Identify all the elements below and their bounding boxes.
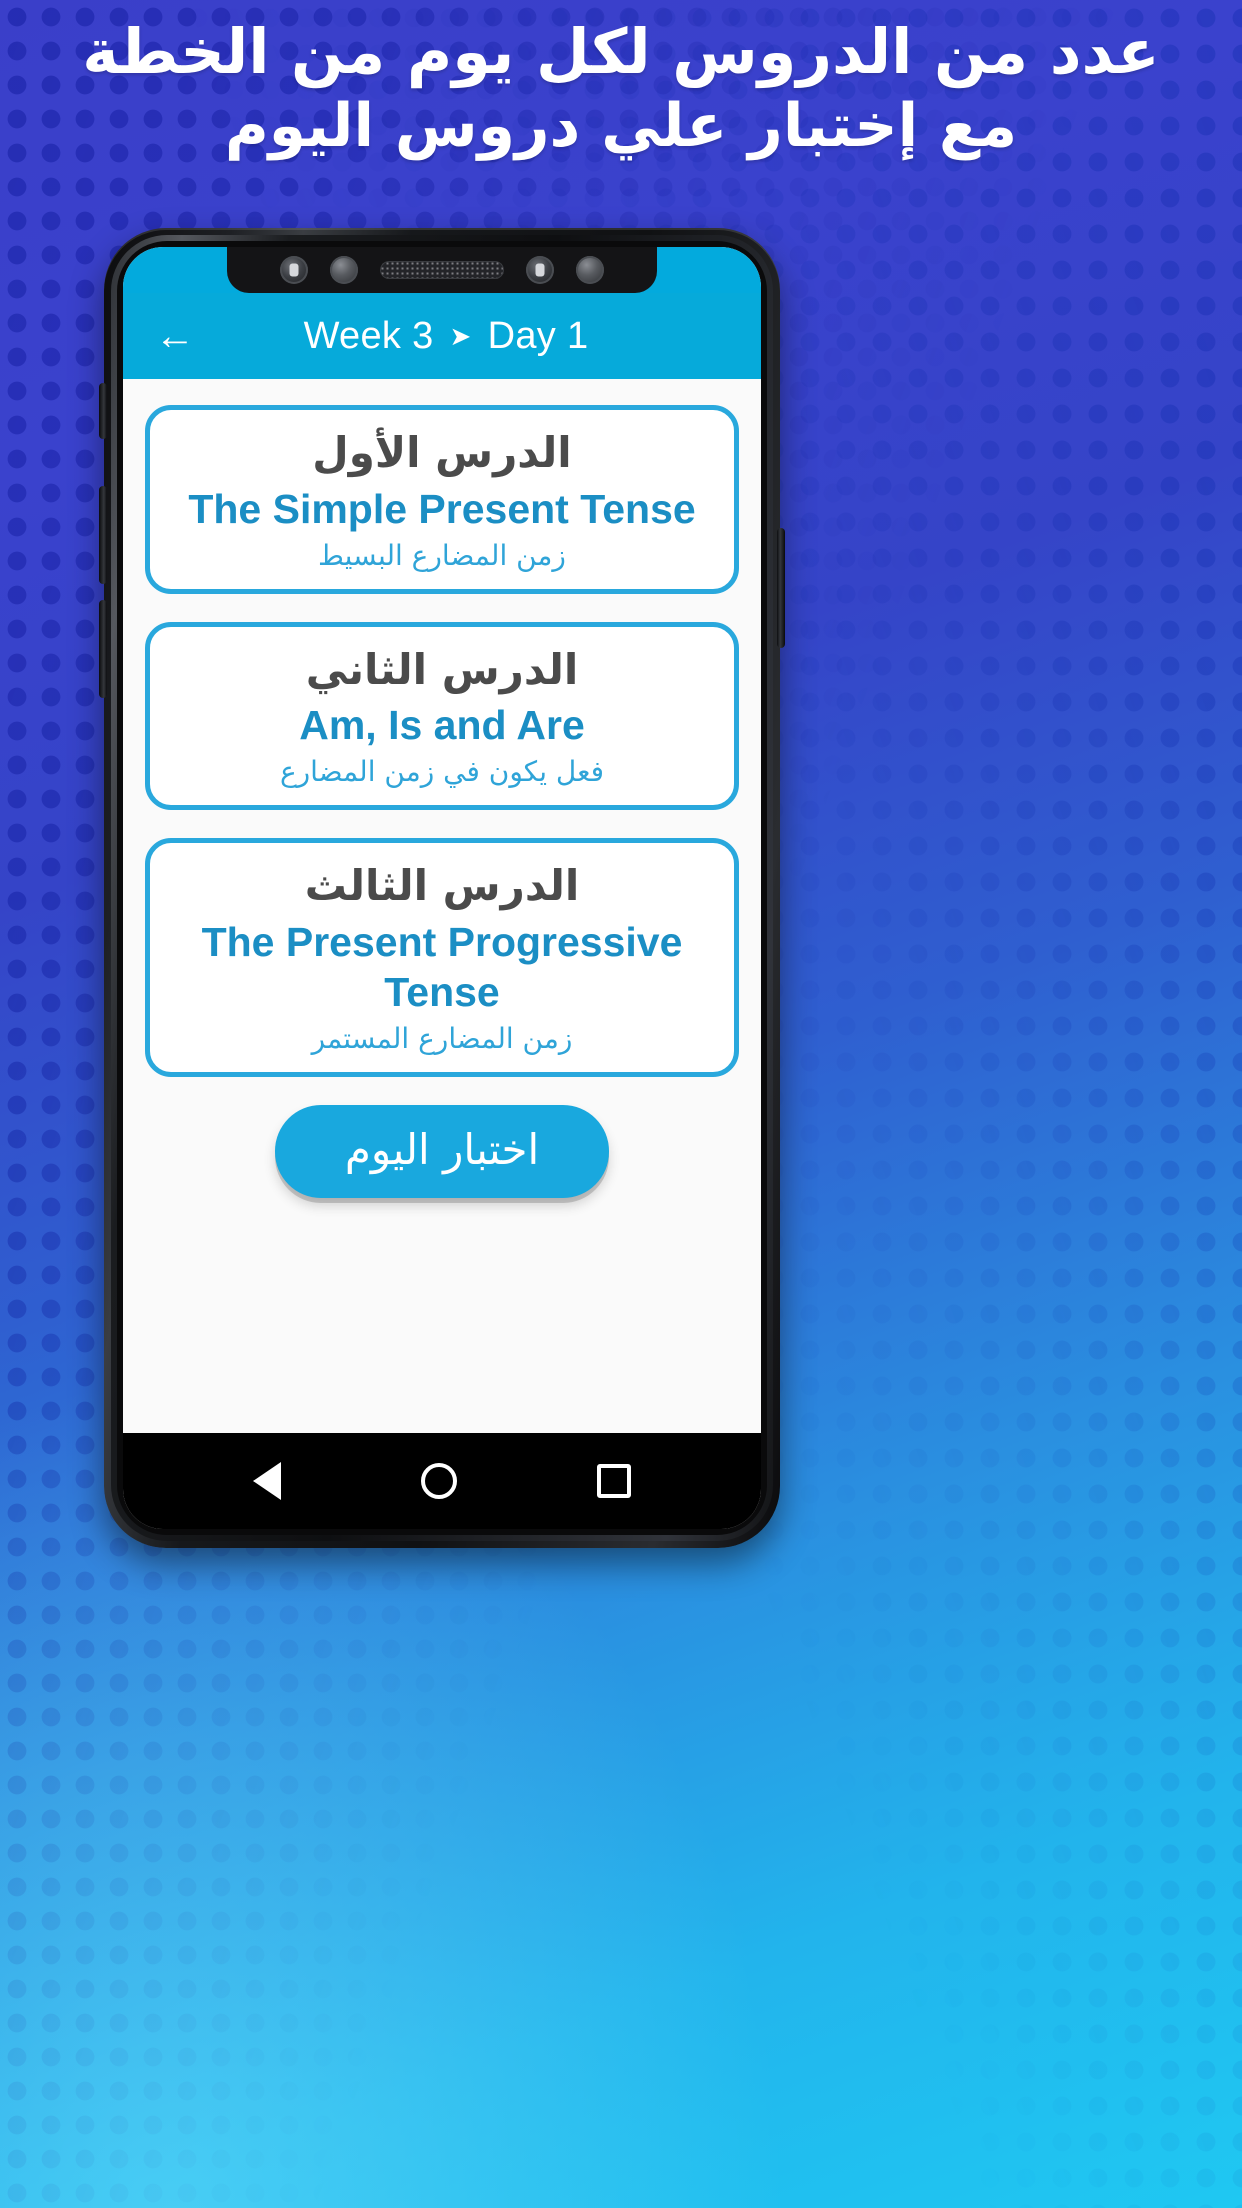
light-sensor-icon <box>526 256 554 284</box>
list-item[interactable]: الدرس الأول The Simple Present Tense زمن… <box>145 405 739 594</box>
android-navigation-bar <box>123 1433 761 1529</box>
lesson-arabic-title: الدرس الثالث <box>170 861 714 911</box>
phone-button-left-top[interactable] <box>99 383 107 439</box>
triangle-back-icon[interactable] <box>253 1462 281 1500</box>
list-item[interactable]: الدرس الثاني Am, Is and Are فعل يكون في … <box>145 622 739 811</box>
phone-volume-up-button[interactable] <box>99 486 107 584</box>
arrow-left-icon[interactable]: ← <box>151 312 199 360</box>
test-button-container: اختبار اليوم <box>145 1105 739 1198</box>
app-bar: ← Week 3 ➤ Day 1 <box>123 293 761 379</box>
front-camera-icon <box>330 256 358 284</box>
promo-headline: عدد من الدروس لكل يوم من الخطة مع إختبار… <box>0 0 1242 163</box>
promo-headline-line-1: عدد من الدروس لكل يوم من الخطة <box>28 14 1214 90</box>
breadcrumb-week-label: Week 3 <box>304 315 434 358</box>
phone-screen: ← Week 3 ➤ Day 1 الدرس الأول The Simple … <box>123 247 761 1529</box>
lesson-list: الدرس الأول The Simple Present Tense زمن… <box>123 379 761 1433</box>
phone-notch <box>227 247 657 293</box>
breadcrumb: Week 3 ➤ Day 1 <box>199 315 733 358</box>
square-recents-icon[interactable] <box>597 1464 631 1498</box>
lesson-arabic-subtitle: زمن المضارع المستمر <box>170 1021 714 1056</box>
lesson-arabic-subtitle: زمن المضارع البسيط <box>170 538 714 573</box>
list-item[interactable]: الدرس الثالث The Present Progressive Ten… <box>145 838 739 1077</box>
proximity-sensor-icon <box>280 256 308 284</box>
lesson-arabic-title: الدرس الأول <box>170 428 714 478</box>
phone-power-button[interactable] <box>777 528 785 648</box>
lesson-arabic-title: الدرس الثاني <box>170 645 714 695</box>
secondary-camera-icon <box>576 256 604 284</box>
phone-volume-down-button[interactable] <box>99 600 107 698</box>
lesson-english-title: The Present Progressive Tense <box>170 917 714 1017</box>
lesson-english-title: The Simple Present Tense <box>170 484 714 534</box>
earpiece-speaker-icon <box>380 261 504 279</box>
lesson-arabic-subtitle: فعل يكون في زمن المضارع <box>170 754 714 789</box>
promo-headline-line-2: مع إختبار علي دروس اليوم <box>28 90 1214 163</box>
lesson-english-title: Am, Is and Are <box>170 700 714 750</box>
phone-mockup: ← Week 3 ➤ Day 1 الدرس الأول The Simple … <box>104 228 780 1548</box>
daily-test-button[interactable]: اختبار اليوم <box>275 1105 609 1198</box>
breadcrumb-day-label: Day 1 <box>488 315 589 358</box>
chevron-right-icon: ➤ <box>450 323 472 349</box>
circle-home-icon[interactable] <box>421 1463 457 1499</box>
